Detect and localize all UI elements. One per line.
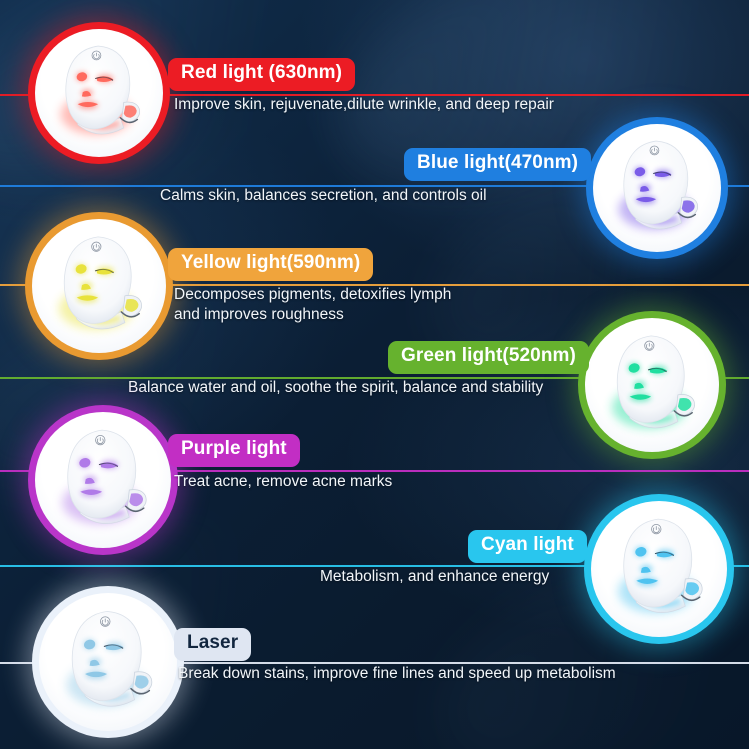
led-face-mask-illustration [35,29,163,157]
description-blue: Calms skin, balances secretion, and cont… [160,186,570,206]
badge-laser: Laser [174,628,251,661]
led-face-mask-illustration [39,593,177,731]
badge-red: Red light (630nm) [168,58,355,91]
badge-cyan: Cyan light [468,530,587,563]
badge-purple: Purple light [168,434,300,467]
infographic-canvas: Red light (630nm)Improve skin, rejuvenat… [0,0,749,749]
badge-green: Green light(520nm) [388,341,589,374]
description-laser: Break down stains, improve fine lines an… [178,664,698,684]
badge-blue: Blue light(470nm) [404,148,591,181]
badge-yellow: Yellow light(590nm) [168,248,373,281]
led-face-mask-illustration [585,318,719,452]
mask-circle-green [578,311,726,459]
mask-circle-purple [28,405,178,555]
description-green: Balance water and oil, soothe the spirit… [128,378,578,398]
mask-circle-laser [32,586,184,738]
led-face-mask-illustration [591,501,727,637]
mask-circle-blue [586,117,728,259]
led-face-mask-illustration [35,412,171,548]
description-red: Improve skin, rejuvenate,dilute wrinkle,… [174,95,694,115]
led-face-mask-illustration [32,219,166,353]
description-purple: Treat acne, remove acne marks [174,472,694,492]
mask-circle-red [28,22,170,164]
description-cyan: Metabolism, and enhance energy [320,567,610,587]
led-face-mask-illustration [593,124,721,252]
mask-circle-yellow [25,212,173,360]
